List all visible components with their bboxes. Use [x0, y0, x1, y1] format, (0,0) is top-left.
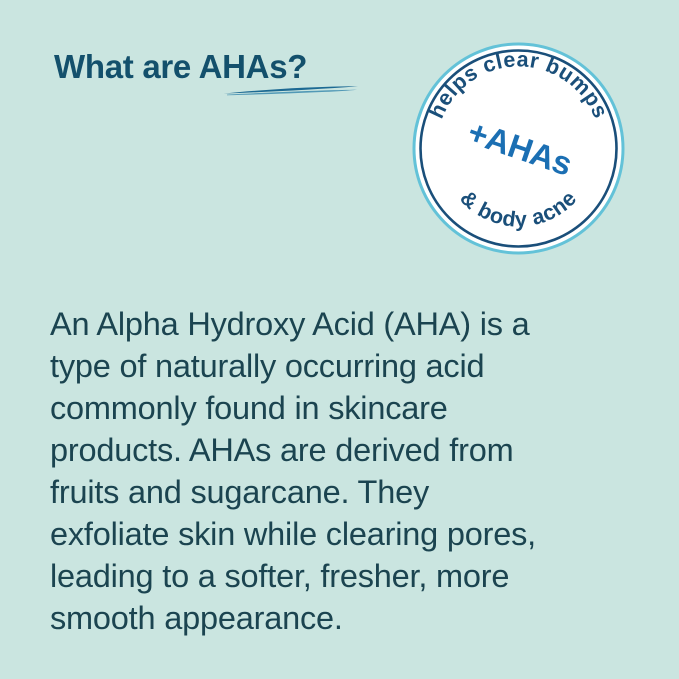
heading-block: What are AHAs? [54, 47, 394, 87]
body-line: commonly found in skincare [50, 387, 630, 429]
body-line: An Alpha Hydroxy Acid (AHA) is a [50, 303, 630, 345]
body-line: exfoliate skin while clearing pores, [50, 513, 630, 555]
body-line: leading to a softer, fresher, more [50, 555, 630, 597]
brush-underline-icon [221, 82, 361, 96]
aha-claim-badge: helps clear bumps & body acne +AHAs [412, 42, 625, 255]
page-title: What are AHAs? [54, 47, 394, 87]
body-line: products. AHAs are derived from [50, 429, 630, 471]
body-line: fruits and sugarcane. They [50, 471, 630, 513]
body-line: smooth appearance. [50, 597, 630, 639]
body-paragraph: An Alpha Hydroxy Acid (AHA) is a type of… [50, 303, 630, 639]
body-line: type of naturally occurring acid [50, 345, 630, 387]
aha-info-card: What are AHAs? helps clear bumps & bo [0, 0, 679, 679]
